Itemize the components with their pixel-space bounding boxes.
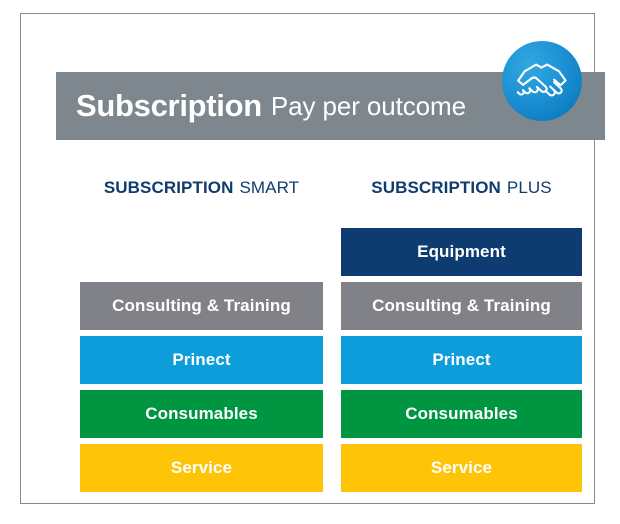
- header-title-light: Pay per outcome: [271, 91, 466, 122]
- bar-plus-equipment[interactable]: Equipment: [341, 228, 582, 276]
- bar-label: Service: [171, 458, 232, 478]
- diagram-frame: Subscription Pay per outcome SUBSCRIPTIO…: [20, 13, 595, 504]
- header-title-strong: Subscription: [76, 88, 262, 124]
- handshake-icon: [514, 59, 570, 103]
- stack-smart: Consulting & TrainingPrinectConsumablesS…: [80, 226, 323, 492]
- bar-smart-consumables[interactable]: Consumables: [80, 390, 323, 438]
- bar-label: Service: [431, 458, 492, 478]
- column-heading-plus-light: PLUS: [507, 178, 552, 198]
- column-heading-smart-light: SMART: [239, 178, 299, 198]
- bar-smart-prinect[interactable]: Prinect: [80, 336, 323, 384]
- bar-label: Prinect: [432, 350, 490, 370]
- column-heading-plus: SUBSCRIPTION PLUS: [341, 175, 582, 201]
- bar-label: Consulting & Training: [372, 296, 551, 316]
- column-heading-smart-strong: SUBSCRIPTION: [104, 178, 234, 198]
- bar-label: Equipment: [417, 242, 506, 262]
- bar-plus-consumables[interactable]: Consumables: [341, 390, 582, 438]
- stack-plus-bars: EquipmentConsulting & TrainingPrinectCon…: [341, 228, 582, 492]
- bar-plus-consulting-training[interactable]: Consulting & Training: [341, 282, 582, 330]
- bar-smart-service[interactable]: Service: [80, 444, 323, 492]
- column-heading-plus-strong: SUBSCRIPTION: [371, 178, 501, 198]
- bar-plus-service[interactable]: Service: [341, 444, 582, 492]
- bar-label: Prinect: [172, 350, 230, 370]
- bar-label: Consumables: [405, 404, 518, 424]
- handshake-badge: [502, 41, 582, 121]
- bar-plus-prinect[interactable]: Prinect: [341, 336, 582, 384]
- column-heading-smart: SUBSCRIPTION SMART: [80, 175, 323, 201]
- bar-label: Consumables: [145, 404, 258, 424]
- stack-plus: EquipmentConsulting & TrainingPrinectCon…: [341, 226, 582, 492]
- bar-smart-consulting-training[interactable]: Consulting & Training: [80, 282, 323, 330]
- stack-smart-bars: Consulting & TrainingPrinectConsumablesS…: [80, 282, 323, 492]
- header-title: Subscription Pay per outcome: [56, 72, 486, 140]
- bar-label: Consulting & Training: [112, 296, 291, 316]
